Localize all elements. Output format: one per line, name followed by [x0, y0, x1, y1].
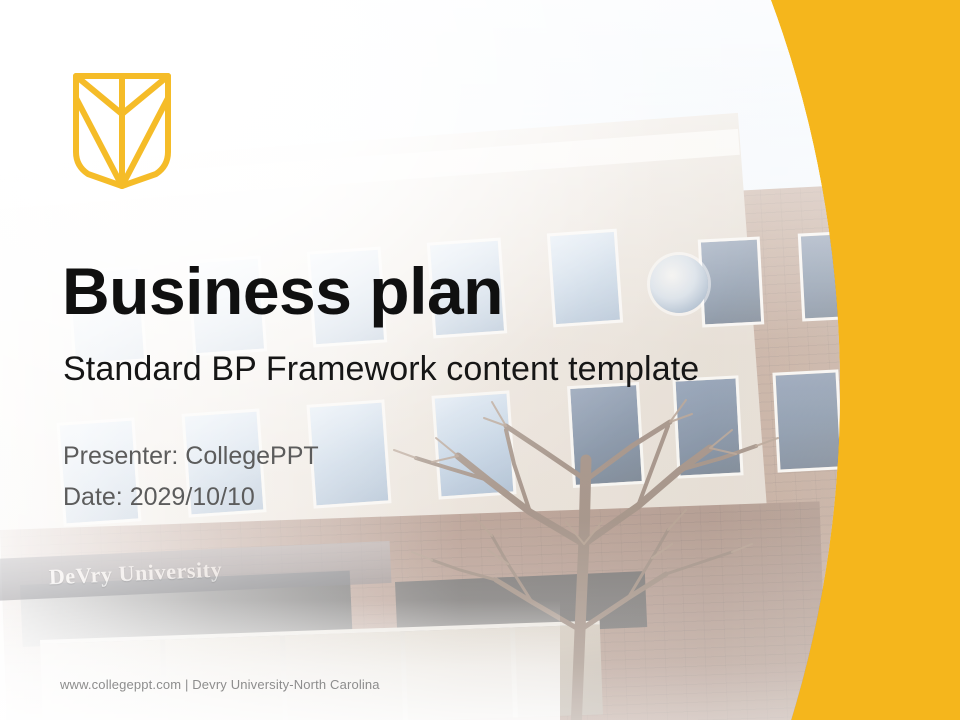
presentation-meta: Presenter: CollegePPT Date: 2029/10/10 — [63, 440, 319, 522]
shield-leaf-logo-icon — [66, 68, 178, 190]
title-slide: DeVry University Business plan St — [0, 0, 960, 720]
page-title: Business plan — [62, 258, 503, 324]
presenter-line: Presenter: CollegePPT — [63, 440, 319, 472]
bottom-white-veil — [0, 600, 560, 720]
devry-university-sign-text: DeVry University — [48, 557, 223, 591]
page-subtitle: Standard BP Framework content template — [63, 352, 699, 386]
footer-credit: www.collegeppt.com | Devry University-No… — [60, 678, 380, 691]
date-line: Date: 2029/10/10 — [63, 481, 319, 513]
